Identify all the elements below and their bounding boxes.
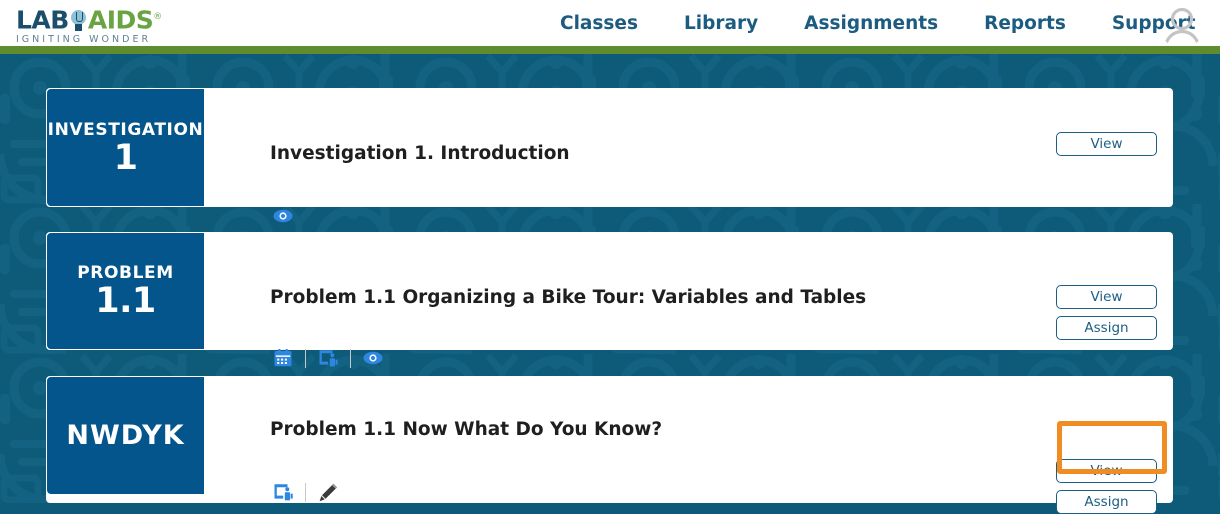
calendar-icon[interactable] [270,346,296,370]
list-item[interactable]: INVESTIGATION 1 Investigation 1. Introdu… [46,88,1173,207]
site-header: LABAIDS® IGNITING WONDER Classes Library… [0,0,1220,46]
assign-button[interactable]: Assign [1056,316,1157,340]
lightbulb-icon [70,10,87,32]
icon-divider [350,349,351,368]
card-actions: View Assign [1056,285,1157,340]
card-icon-row [270,480,341,504]
nav-assignments[interactable]: Assignments [804,13,938,34]
present-icon[interactable] [315,346,341,370]
assign-button[interactable]: Assign [1056,490,1157,514]
thumbnail-line1: INVESTIGATION [48,120,204,140]
view-button[interactable]: View [1056,132,1157,156]
icon-divider [305,483,306,502]
preview-eye-icon[interactable] [270,204,296,228]
card-thumbnail: NWDYK [47,377,204,494]
logo-tagline: IGNITING WONDER [16,34,246,45]
thumbnail-line1: PROBLEM [77,263,174,283]
list-item[interactable]: PROBLEM 1.1 Problem 1.1 Organizing a Bik… [46,232,1173,350]
content-area: INVESTIGATION 1 Investigation 1. Introdu… [0,54,1220,503]
header-accent-bar [0,46,1220,54]
card-icon-row [270,346,386,370]
present-icon[interactable] [270,480,296,504]
card-thumbnail: PROBLEM 1.1 [47,233,204,349]
card-actions: View Assign [1056,459,1157,514]
page-title: Problem 1.1 Organizing a Bike Tour: Vari… [270,287,866,308]
card-actions: View [1056,132,1157,156]
nav-reports[interactable]: Reports [984,13,1066,34]
thumbnail-line1: NWDYK [66,420,184,451]
main-navigation: Classes Library Assignments Reports Supp… [560,0,1196,46]
view-button[interactable]: View [1056,459,1157,483]
logo-wordmark: LABAIDS® [16,4,246,33]
nav-library[interactable]: Library [684,13,758,34]
page-title: Problem 1.1 Now What Do You Know? [270,419,662,440]
edit-pencil-icon[interactable] [315,480,341,504]
page-title: Investigation 1. Introduction [270,143,570,164]
view-button[interactable]: View [1056,285,1157,309]
logo-primary-text: LAB [16,5,69,34]
registered-mark-icon: ® [153,12,162,22]
nav-classes[interactable]: Classes [560,13,638,34]
thumbnail-line2: 1.1 [95,283,156,319]
preview-eye-icon[interactable] [360,346,386,370]
card-icon-row [270,204,296,228]
thumbnail-line2: 1 [114,140,138,176]
list-item[interactable]: NWDYK Problem 1.1 Now What Do You Know? [46,376,1173,503]
avatar[interactable] [1159,2,1205,48]
logo[interactable]: LABAIDS® IGNITING WONDER [16,4,246,44]
logo-secondary-text: AIDS [88,5,153,34]
card-thumbnail: INVESTIGATION 1 [47,89,204,206]
icon-divider [305,349,306,368]
